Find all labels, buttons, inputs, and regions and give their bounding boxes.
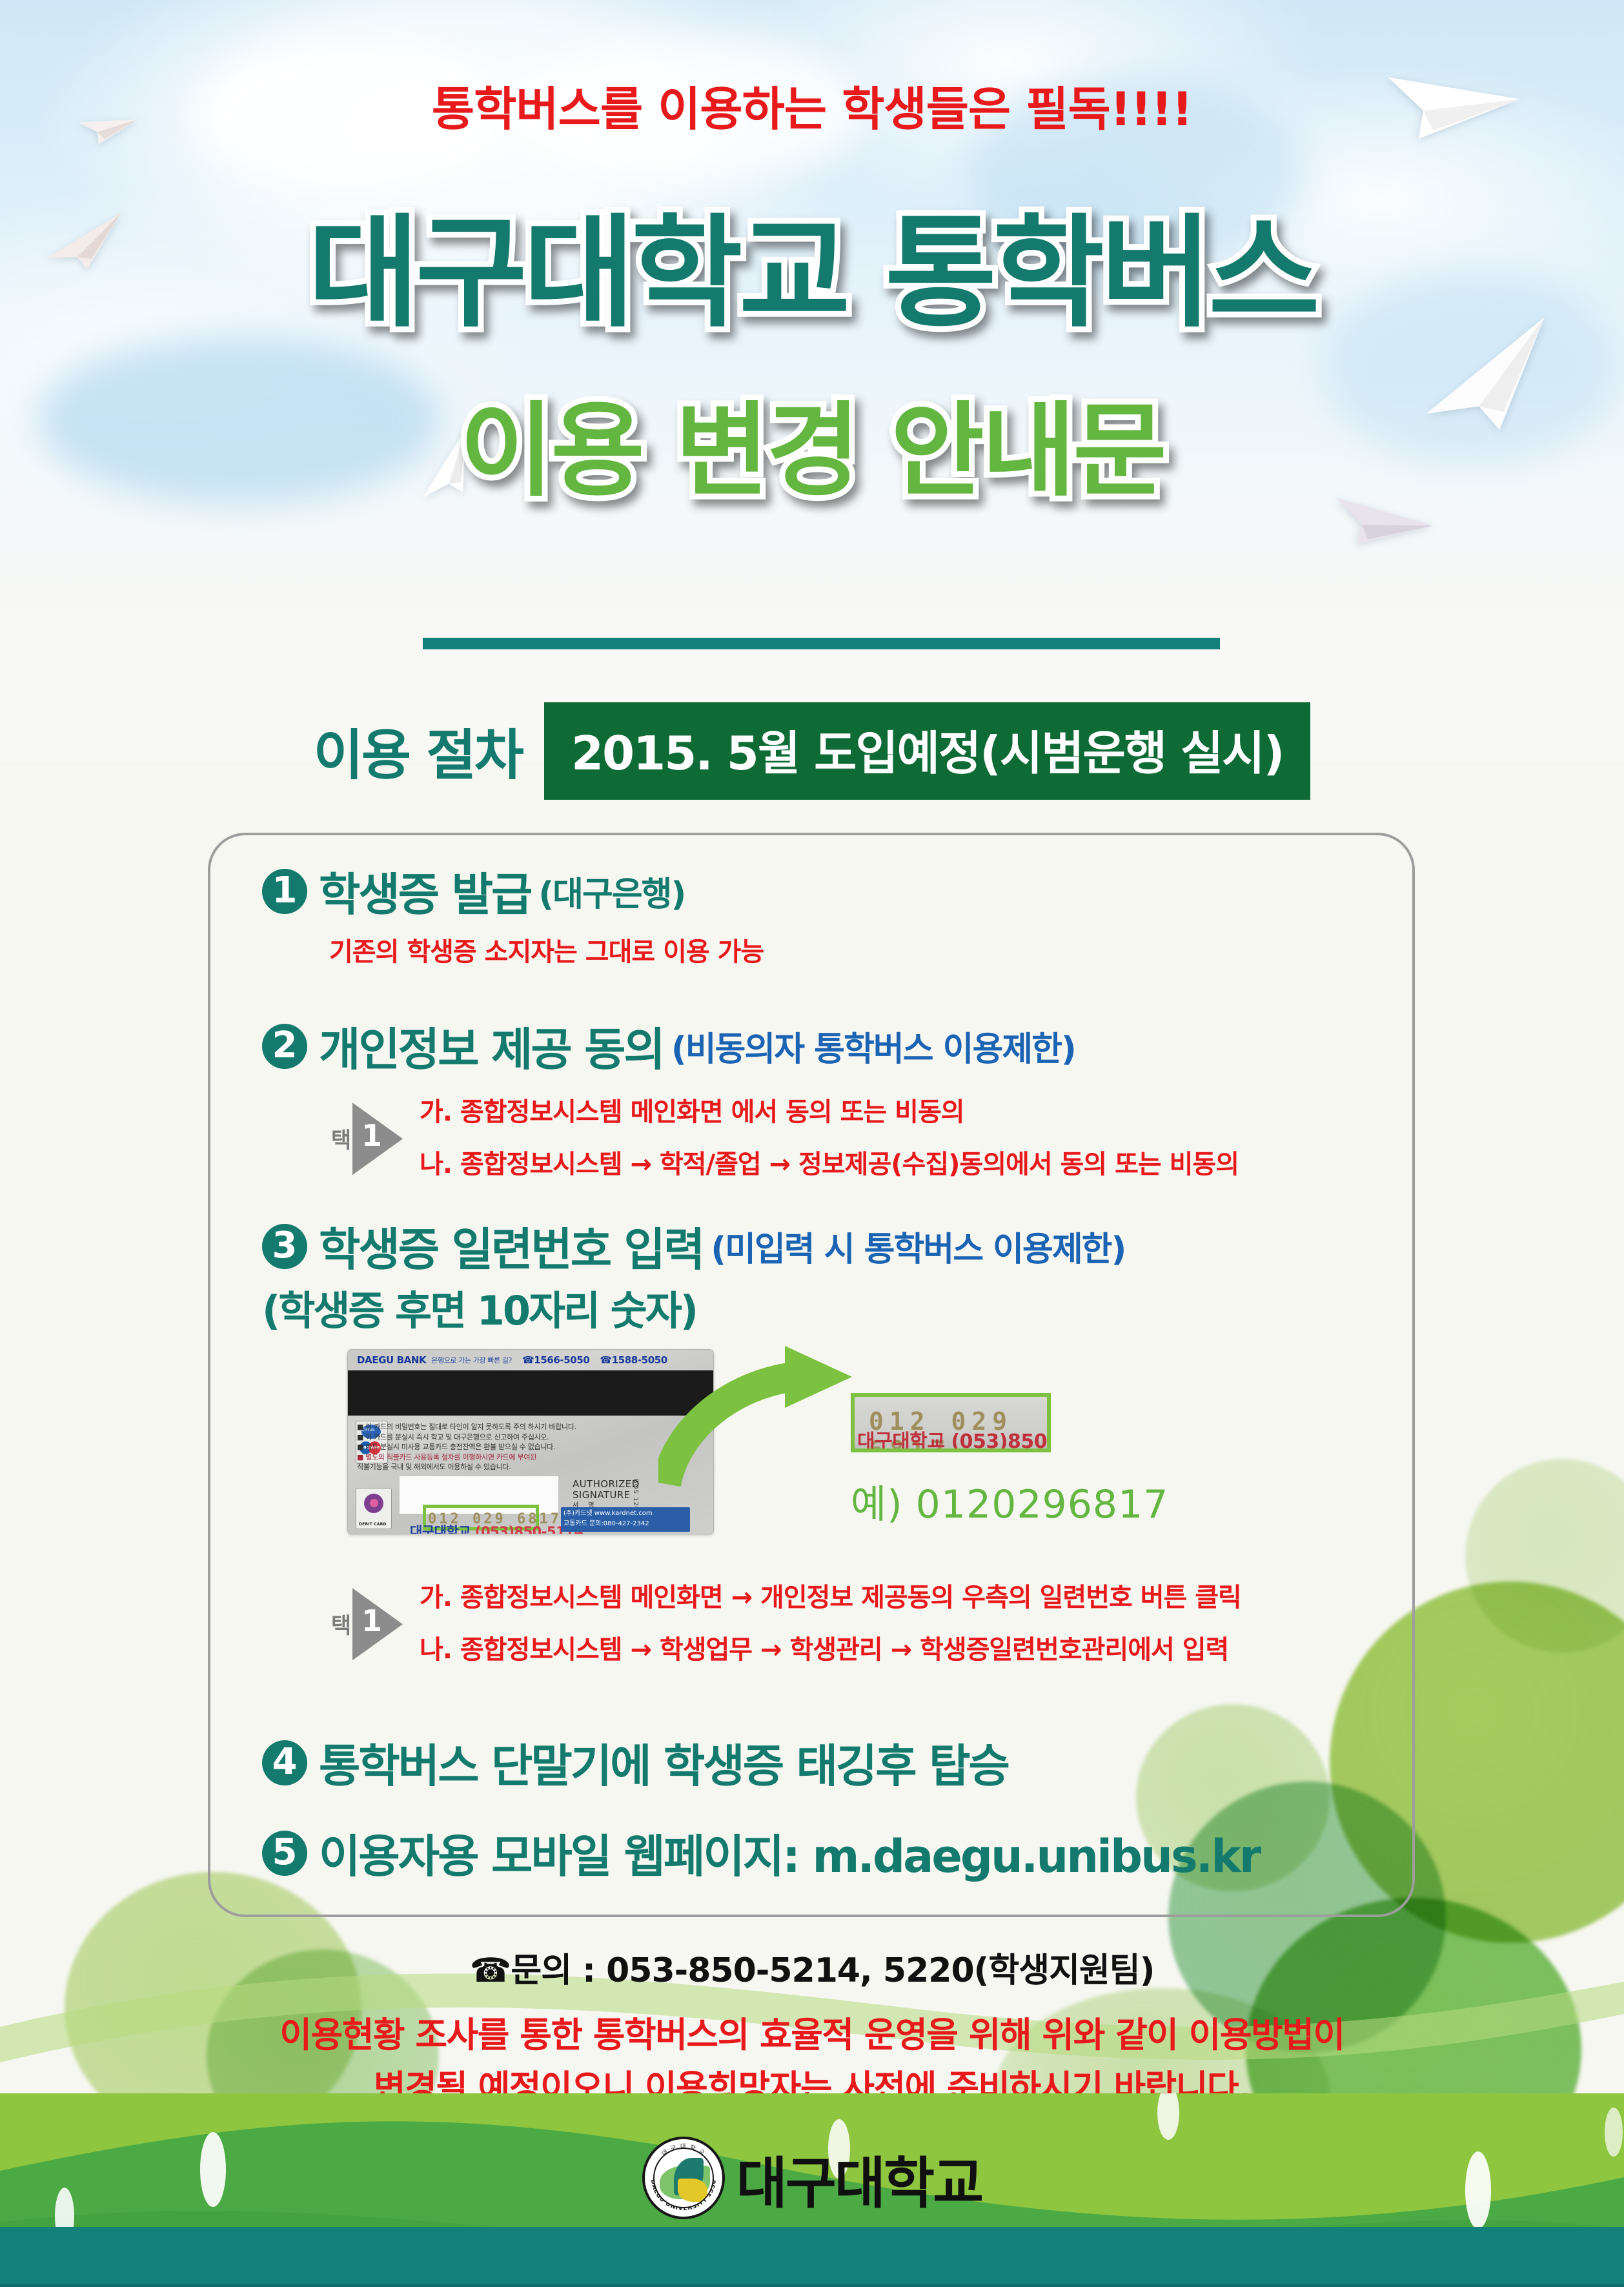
step-3: 3학생증 일련번호 입력(미입력 시 통학버스 이용제한) bbox=[262, 1214, 1125, 1279]
step-2-paren: (비동의자 통학버스 이용제한) bbox=[671, 1022, 1075, 1070]
card-authorized-signature: AUTHORIZED SIGNATURE 서 명 bbox=[573, 1479, 640, 1509]
step-1-number: 1 bbox=[262, 869, 307, 914]
serial-example-text: 예) 0120296817 bbox=[851, 1473, 1168, 1529]
pick-number: 1 bbox=[361, 1121, 382, 1150]
step-2-option-a: 가. 종합정보시스템 메인화면 에서 동의 또는 비동의 bbox=[420, 1097, 1239, 1128]
serial-zoom-callout: 012 029 6817 대구대학교 (053)850-5 bbox=[851, 1393, 1051, 1452]
step-4-number: 4 bbox=[262, 1740, 307, 1785]
card-notice-line: ■ 이 카드의 비밀번호는 절대로 타인이 알지 못하도록 주의 하시기 바랍니… bbox=[357, 1422, 628, 1432]
pick-label: 택 bbox=[328, 1614, 350, 1635]
signature-label: SIGNATURE bbox=[573, 1489, 631, 1501]
card-notice-line: ■ 이 카드를 분실시 즉시 학교 및 대구은행으로 신고하여 주십시오. bbox=[357, 1432, 628, 1443]
section-header: 이용 절차2015. 5월 도입예정(시범운행 실시) bbox=[0, 702, 1624, 800]
step-3-subtitle: (학생증 후면 10자리 숫자) bbox=[262, 1278, 696, 1336]
step-5: 5이용자용 모바일 웹페이지: m.daegu.unibus.kr bbox=[262, 1820, 1259, 1886]
contact-line: ☎문의 : 053-850-5214, 5220(학생지원팀) bbox=[0, 1943, 1624, 1991]
card-notice-text: ■ 이 카드의 비밀번호는 절대로 타인이 알지 못하도록 주의 하시기 바랍니… bbox=[357, 1422, 628, 1472]
divider bbox=[423, 638, 1220, 649]
step-1-title: 학생증 발급 bbox=[319, 859, 531, 924]
step-3-number: 3 bbox=[262, 1224, 307, 1269]
university-brand: 대 구 대 학 교 DAEGU UNIVERSITY 1956 대구대학교 bbox=[0, 2137, 1624, 2219]
step-4: 4통학버스 단말기에 학생증 태깅후 탑승 bbox=[262, 1730, 1008, 1795]
university-name: 대구대학교 bbox=[736, 2138, 982, 2219]
step-2: 2개인정보 제공 동의(비동의자 통학버스 이용제한) bbox=[262, 1013, 1075, 1079]
kardnet-name: (주)카드넷 bbox=[563, 1510, 593, 1517]
footer-bar bbox=[0, 2227, 1624, 2287]
logo-emblem bbox=[653, 2148, 714, 2208]
step-3-title: 학생증 일련번호 입력 bbox=[319, 1214, 703, 1279]
pick-number: 1 bbox=[361, 1606, 382, 1636]
curved-arrow-icon bbox=[658, 1346, 871, 1497]
step-2-pick-one: 택 1 가. 종합정보시스템 메인화면 에서 동의 또는 비동의 나. 종합정보… bbox=[328, 1097, 1239, 1180]
card-phone-1: ☎1566-5050 bbox=[522, 1354, 589, 1366]
step-5-title: 이용자용 모바일 웹페이지: m.daegu.unibus.kr bbox=[319, 1820, 1259, 1886]
card-notice-line: 직불기능을 국내 및 해외에서도 이용하실 수 있습니다. bbox=[357, 1462, 628, 1472]
section-chip: 2015. 5월 도입예정(시범운행 실시) bbox=[544, 702, 1311, 800]
authorized-label: AUTHORIZED bbox=[573, 1478, 640, 1490]
card-kardnet-block: (주)카드넷 www.kardnet.com 교통카드 문의:080-427-2… bbox=[561, 1507, 690, 1532]
step-1-paren: (대구은행) bbox=[538, 867, 685, 915]
kardnet-line: 교통카드 문의:080-427-2342 bbox=[563, 1520, 649, 1527]
card-phone-2: ☎1588-5050 bbox=[600, 1354, 667, 1366]
pick-triangle-icon: 1 bbox=[352, 1588, 403, 1660]
page-title-line1: 대구대학교 통학버스 bbox=[0, 213, 1624, 334]
pick-label: 택 bbox=[328, 1128, 350, 1150]
step-3-option-a: 가. 종합정보시스템 메인화면 → 개인정보 제공동의 우측의 일련번호 버튼 … bbox=[420, 1583, 1241, 1613]
step-2-title: 개인정보 제공 동의 bbox=[319, 1013, 664, 1079]
step-3-option-b: 나. 종합정보시스템 → 학생업무 → 학생관리 → 학생증일련번호관리에서 입… bbox=[420, 1635, 1241, 1665]
card-notice-line: ■ 카드 분실시 미사용 교통카드 충전잔액은 환불 받으실 수 없습니다. bbox=[357, 1442, 628, 1452]
footer-note-line1: 이용현황 조사를 통한 통학버스의 효율적 운영을 위해 위와 같이 이용방법이 bbox=[0, 2006, 1624, 2057]
card-notice-line: ■ 별도의 직불카드 사용등록 절차를 이행하시면 카드에 부여된 bbox=[357, 1452, 628, 1463]
university-logo-icon: 대 구 대 학 교 DAEGU UNIVERSITY 1956 bbox=[642, 2137, 725, 2219]
zoom-sub-line: 대구대학교 (053)850-5 bbox=[857, 1425, 1051, 1452]
debit-label: DEBIT CARD bbox=[359, 1522, 387, 1527]
poster-root: 통학버스를 이용하는 학생들은 필독!!!! 대구대학교 통학버스 이용 변경 … bbox=[0, 0, 1624, 2287]
card-school-name: 대구대학교 bbox=[410, 1524, 471, 1534]
step-2-number: 2 bbox=[262, 1024, 307, 1069]
step-4-title: 통학버스 단말기에 학생증 태깅후 탑승 bbox=[319, 1730, 1008, 1795]
card-school-line: 대구대학교 (053)850-5114 bbox=[410, 1521, 583, 1534]
step-3-options: 가. 종합정보시스템 메인화면 → 개인정보 제공동의 우측의 일련번호 버튼 … bbox=[420, 1583, 1241, 1665]
page-title-line2: 이용 변경 안내문 bbox=[0, 400, 1624, 502]
step-1: 1학생증 발급(대구은행) bbox=[262, 859, 685, 924]
kicker-text: 통학버스를 이용하는 학생들은 필독!!!! bbox=[0, 71, 1624, 139]
footer-bar-edge bbox=[0, 2284, 1624, 2287]
step-5-number: 5 bbox=[262, 1831, 307, 1876]
card-bank-slogan: 은행으로 가는 가장 빠른 길? bbox=[431, 1355, 512, 1365]
step-2-option-b: 나. 종합정보시스템 → 학적/졸업 → 정보제공(수집)동의에서 동의 또는 … bbox=[420, 1150, 1239, 1180]
step-2-options: 가. 종합정보시스템 메인화면 에서 동의 또는 비동의 나. 종합정보시스템 … bbox=[420, 1097, 1239, 1180]
debit-card-logo-icon: DEBIT CARD bbox=[356, 1488, 392, 1529]
step-3-paren: (미입력 시 통학버스 이용제한) bbox=[711, 1222, 1125, 1270]
kardnet-url: www.kardnet.com bbox=[594, 1510, 653, 1517]
step-1-note: 기존의 학생증 소지자는 그대로 이용 가능 bbox=[329, 931, 764, 968]
card-bank-name: DAEGU BANK bbox=[357, 1354, 426, 1366]
pick-triangle-icon: 1 bbox=[352, 1103, 403, 1175]
section-label: 이용 절차 bbox=[314, 712, 522, 790]
step-3-pick-one: 택 1 가. 종합정보시스템 메인화면 → 개인정보 제공동의 우측의 일련번호… bbox=[328, 1583, 1241, 1665]
